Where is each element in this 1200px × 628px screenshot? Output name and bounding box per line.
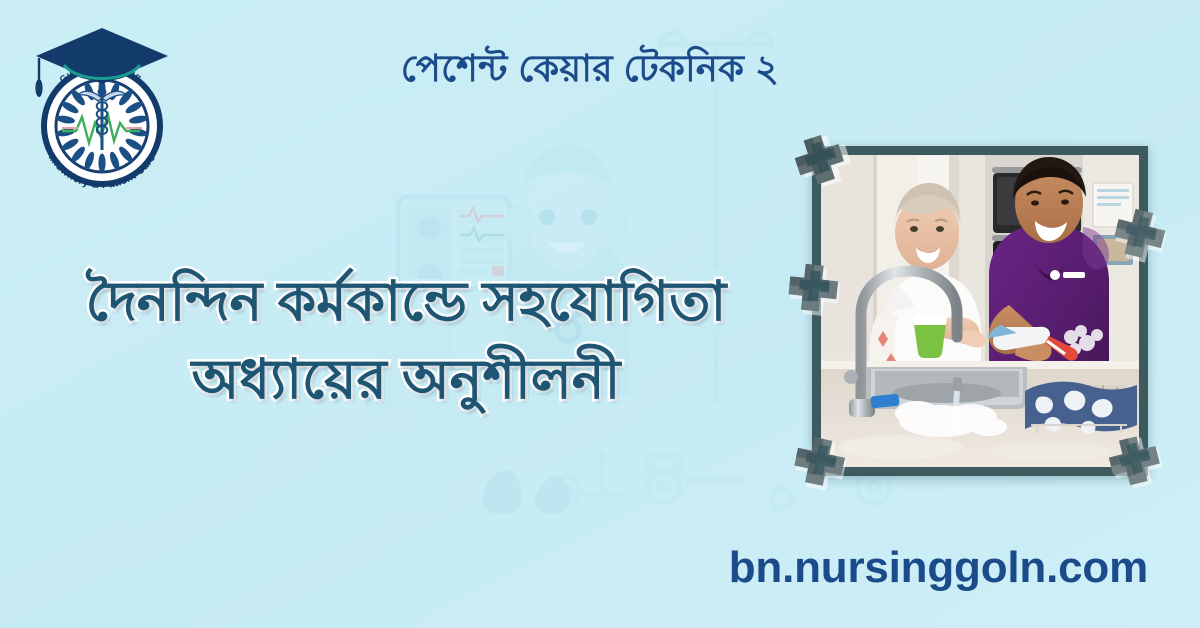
photo-card <box>812 146 1148 476</box>
headline-line-1: দৈনন্দিন কর্মকান্ডে সহযোগিতা <box>0 262 812 340</box>
page-title: পেশেন্ট কেয়ার টেকনিক ২ <box>230 38 950 100</box>
gurukul-nursing-logo: Gurukul Nursing, Midwifery & Patient Car… <box>22 22 182 197</box>
headline-line-2: অধ্যায়ের অনুশীলনী <box>0 340 812 418</box>
caregiver-photo <box>821 155 1139 467</box>
nurse-shoes-watermark <box>482 470 570 514</box>
headline-block: দৈনন্দিন কর্মকান্ডে সহযোগিতা অধ্যায়ের অ… <box>0 262 812 418</box>
site-url[interactable]: bn.nursinggoln.com <box>729 543 1148 593</box>
